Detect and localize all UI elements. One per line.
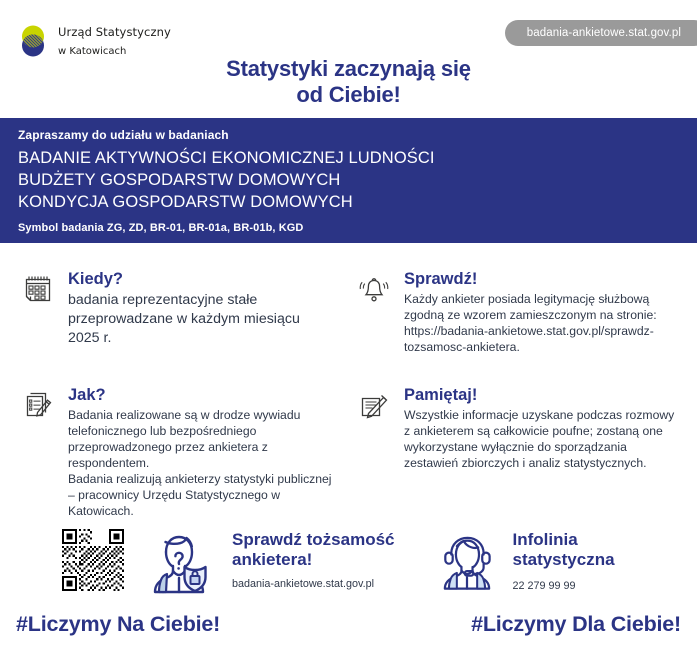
calendar-icon — [22, 270, 56, 356]
info-body-jak: Badania realizowane są w drodze wywiadu … — [68, 407, 334, 520]
survey-banner: Zapraszamy do udziału w badaniach BADANI… — [0, 118, 697, 243]
info-grid: Kiedy? badania reprezentacyjne stałe prz… — [0, 262, 697, 519]
hashtag-row: #Liczymy Na Ciebie! #Liczymy Dla Ciebie! — [0, 612, 697, 637]
bell-icon — [358, 270, 392, 356]
us-katowice-logo-icon — [16, 22, 50, 60]
survey-symbols: Symbol badania ZG, ZD, BR-01, BR-01a, BR… — [18, 222, 697, 234]
promo-identity-heading: Sprawdź tożsamość ankietera! — [232, 530, 395, 571]
promo-identity: Sprawdź tożsamość ankietera! badania-ank… — [0, 520, 395, 605]
survey-name-2: BUDŻETY GOSPODARSTW DOMOWYCH — [18, 170, 697, 192]
person-question-shield-icon — [140, 522, 218, 605]
promo-identity-heading-line-2: ankietera! — [232, 550, 395, 570]
info-heading-sprawdz: Sprawdź! — [404, 270, 682, 288]
page-title-line-1: Statystyki zaczynają się — [0, 56, 697, 82]
hashtag-right: #Liczymy Dla Ciebie! — [471, 612, 681, 637]
clipboard-pen-icon — [22, 386, 56, 520]
info-heading-pamietaj: Pamiętaj! — [404, 386, 682, 404]
banner-kicker: Zapraszamy do udziału w badaniach — [18, 128, 697, 142]
info-block-sprawdz: Sprawdź! Każdy ankieter posiada legityma… — [348, 262, 696, 356]
promo-hotline-heading-line-2: statystyczna — [513, 550, 615, 570]
page-title: Statystyki zaczynają się od Ciebie! — [0, 56, 697, 109]
promo-hotline-heading-line-1: Infolinia — [513, 530, 615, 550]
info-block-jak: Jak? Badania realizowane są w drodze wyw… — [0, 378, 348, 520]
survey-name-3: KONDYCJA GOSPODARSTW DOMOWYCH — [18, 192, 697, 214]
promo-hotline-heading: Infolinia statystyczna — [513, 530, 615, 571]
info-body-kiedy: badania reprezentacyjne stałe przeprowad… — [68, 291, 334, 349]
url-badge[interactable]: badania-ankietowe.stat.gov.pl — [505, 20, 697, 46]
promo-hotline: Infolinia statystyczna 22 279 99 99 — [395, 520, 615, 601]
hashtag-left: #Liczymy Na Ciebie! — [16, 612, 220, 637]
page-title-line-2: od Ciebie! — [0, 82, 697, 108]
info-body-sprawdz: Każdy ankieter posiada legitymację służb… — [404, 291, 682, 323]
info-block-pamietaj: Pamiętaj! Wszystkie informacje uzyskane … — [348, 378, 696, 520]
info-heading-jak: Jak? — [68, 386, 334, 404]
info-heading-kiedy: Kiedy? — [68, 270, 334, 288]
info-block-kiedy: Kiedy? badania reprezentacyjne stałe prz… — [0, 262, 348, 356]
promo-hotline-phone[interactable]: 22 279 99 99 — [513, 580, 615, 592]
note-pen-icon — [358, 386, 392, 520]
qr-code[interactable] — [62, 529, 124, 591]
logo-line-1: Urząd Statystyczny — [58, 25, 171, 39]
header: Urząd Statystyczny w Katowicach badania-… — [0, 0, 697, 118]
poster: Urząd Statystyczny w Katowicach badania-… — [0, 0, 697, 663]
promo-identity-heading-line-1: Sprawdź tożsamość — [232, 530, 395, 550]
survey-name-1: BADANIE AKTYWNOŚCI EKONOMICZNEJ LUDNOŚCI — [18, 148, 697, 170]
info-link-sprawdz[interactable]: https://badania-ankietowe.stat.gov.pl/sp… — [404, 323, 682, 355]
organisation-logo: Urząd Statystyczny w Katowicach — [16, 22, 171, 60]
info-body-pamietaj: Wszystkie informacje uzyskane podczas ro… — [404, 407, 682, 471]
headset-operator-icon — [431, 524, 503, 601]
promo-identity-url[interactable]: badania-ankietowe.stat.gov.pl — [232, 578, 395, 590]
promo-row: Sprawdź tożsamość ankietera! badania-ank… — [0, 520, 697, 605]
